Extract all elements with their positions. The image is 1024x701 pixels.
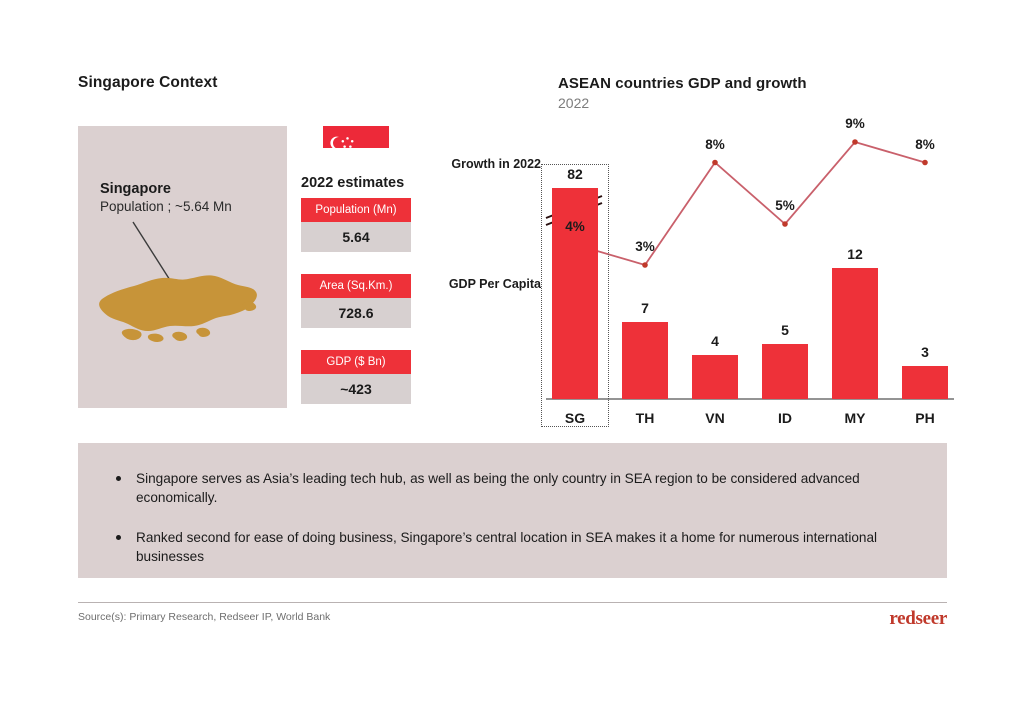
growth-marker <box>642 262 648 268</box>
list-item: Ranked second for ease of doing business… <box>112 528 913 567</box>
insights-panel: Singapore serves as Asia’s leading tech … <box>78 443 947 578</box>
growth-marker <box>712 160 718 166</box>
bar-value-label: 12 <box>847 246 863 262</box>
footer-divider <box>78 602 947 603</box>
singapore-flag-icon <box>323 126 389 170</box>
estimates-label: 2022 estimates <box>301 175 404 191</box>
insight-text: Singapore serves as Asia’s leading tech … <box>136 469 913 508</box>
bar-vn <box>692 355 738 399</box>
stat-header: GDP ($ Bn) <box>301 350 411 374</box>
stat-card-gdp: GDP ($ Bn) ~423 <box>301 350 411 404</box>
bar-value-label: 82 <box>567 166 583 182</box>
category-label-ph: PH <box>915 410 934 426</box>
growth-marker <box>852 139 858 145</box>
growth-value-label: 5% <box>775 198 795 213</box>
growth-value-label: 4% <box>565 219 585 234</box>
map-country-label: Singapore <box>100 181 171 197</box>
growth-value-label: 9% <box>845 116 865 131</box>
insight-text: Ranked second for ease of doing business… <box>136 528 913 567</box>
stat-value: 5.64 <box>301 222 411 252</box>
stat-header: Population (Mn) <box>301 198 411 222</box>
bar-id <box>762 344 808 399</box>
growth-value-label: 3% <box>635 239 655 254</box>
chart-title: ASEAN countries GDP and growth <box>558 75 807 92</box>
category-label-my: MY <box>845 410 866 426</box>
stat-card-population: Population (Mn) 5.64 <box>301 198 411 252</box>
stat-header: Area (Sq.Km.) <box>301 274 411 298</box>
bar-ph <box>902 366 948 399</box>
source-note: Source(s): Primary Research, Redseer IP,… <box>78 611 330 623</box>
stat-value: ~423 <box>301 374 411 404</box>
category-label-sg: SG <box>565 410 585 426</box>
bar-value-label: 5 <box>781 322 789 338</box>
map-population-label: Population ; ~5.64 Mn <box>100 199 232 214</box>
growth-axis-label: Growth in 2022 <box>431 157 541 171</box>
singapore-map-panel: Singapore Population ; ~5.64 Mn <box>78 126 287 408</box>
growth-value-label: 8% <box>705 137 725 152</box>
bar-value-label: 3 <box>921 344 929 360</box>
asean-gdp-growth-chart: 82745123 4%3%8%5%9%8% SGTHVNIDMYPH <box>540 100 960 430</box>
slide-canvas: Singapore Context Singapore Population ;… <box>0 0 1024 701</box>
bar-th <box>622 322 668 399</box>
category-label-th: TH <box>636 410 655 426</box>
bar-value-label: 7 <box>641 300 649 316</box>
category-label-id: ID <box>778 410 792 426</box>
growth-value-label: 8% <box>915 137 935 152</box>
growth-marker <box>782 221 788 227</box>
bar-value-label: 4 <box>711 333 719 349</box>
redseer-logo: redseer <box>889 608 947 630</box>
category-label-vn: VN <box>705 410 724 426</box>
bar-my <box>832 268 878 399</box>
growth-marker <box>922 160 928 166</box>
growth-line <box>575 142 925 265</box>
flag-crescent-stars-icon <box>323 126 389 170</box>
singapore-map-icon <box>78 126 287 408</box>
list-item: Singapore serves as Asia’s leading tech … <box>112 469 913 508</box>
gdp-axis-label: GDP Per Capita <box>431 277 541 291</box>
stat-value: 728.6 <box>301 298 411 328</box>
page-title: Singapore Context <box>78 74 218 92</box>
stat-card-area: Area (Sq.Km.) 728.6 <box>301 274 411 328</box>
